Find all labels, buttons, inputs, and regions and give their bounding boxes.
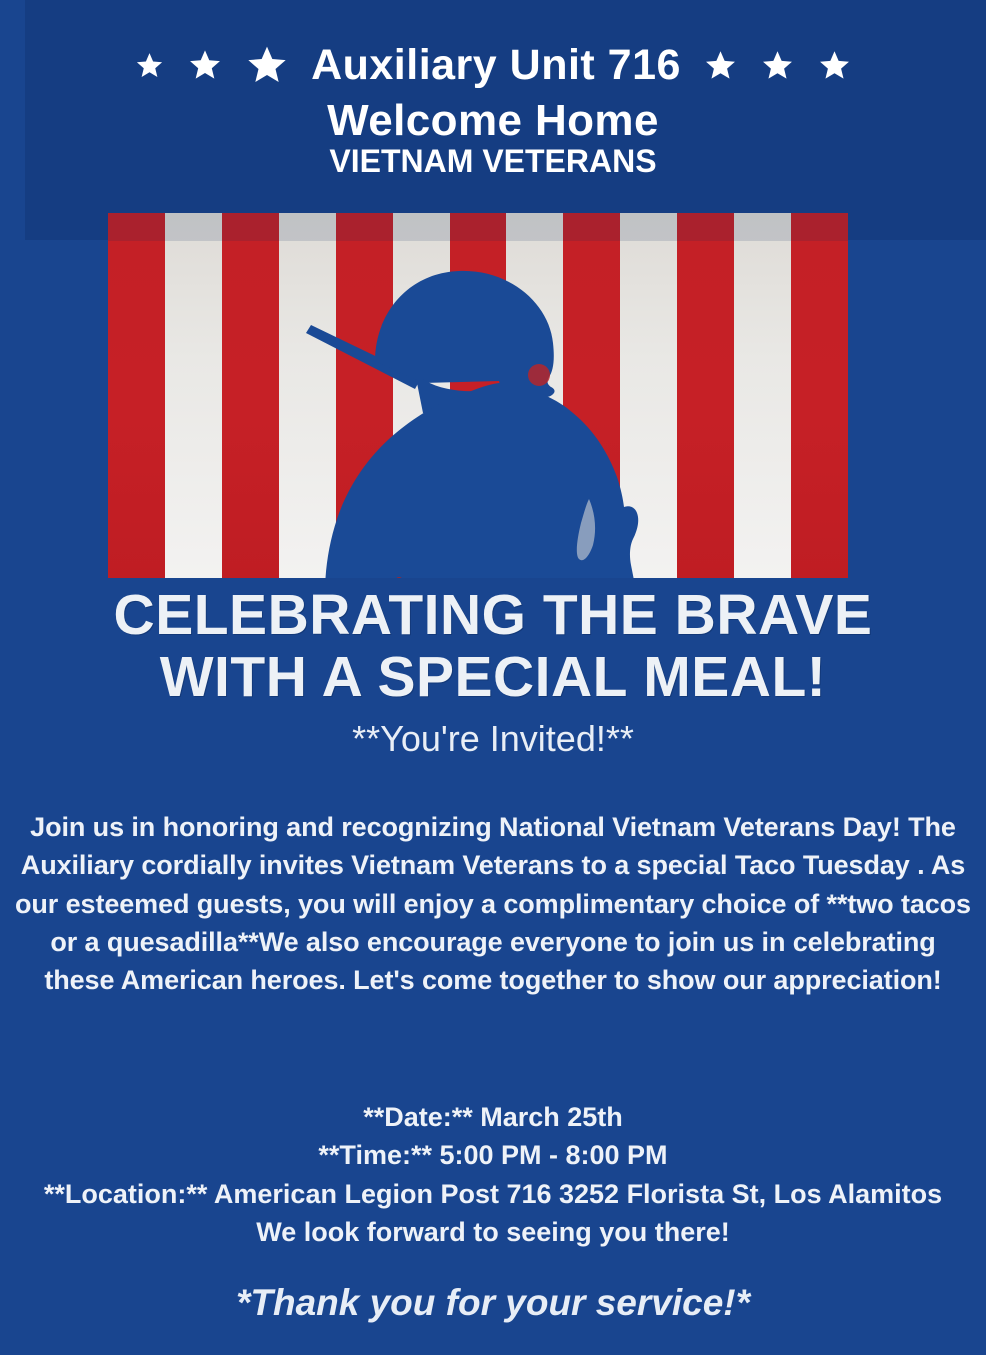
flag-image [108,213,848,578]
star-icon [705,50,736,81]
detail-time: **Time:** 5:00 PM - 8:00 PM [8,1136,978,1174]
star-icon [819,50,850,81]
detail-location: **Location:** American Legion Post 716 3… [8,1175,978,1213]
welcome-home-heading: Welcome Home [0,98,986,144]
star-icon [136,52,163,79]
flag-stripe-red [791,213,848,578]
poster-header: Auxiliary Unit 716 Welcome Home VIETNAM … [0,0,986,200]
star-icon [247,45,287,85]
right-star-group [705,50,850,81]
headline: CELEBRATING THE BRAVE WITH A SPECIAL MEA… [0,585,986,708]
star-icon [189,49,221,81]
invited-subheading: **You're Invited!** [0,718,986,760]
vietnam-veterans-subheading: VIETNAM VETERANS [0,145,986,179]
headline-line-1: CELEBRATING THE BRAVE [0,585,986,647]
detail-closing-note: We look forward to seeing you there! [8,1213,978,1251]
header-star-title-row: Auxiliary Unit 716 [0,36,986,94]
page-title: Auxiliary Unit 716 [287,44,705,87]
thank-you-message: *Thank you for your service!* [0,1282,986,1324]
flag-stripe-white [734,213,791,578]
event-details: **Date:** March 25th **Time:** 5:00 PM -… [8,1098,978,1251]
left-star-group [136,45,287,85]
flag-stripe-red [222,213,279,578]
flag-top-shadow [108,213,848,241]
detail-date: **Date:** March 25th [8,1098,978,1136]
flag-stripe-red [108,213,165,578]
headline-line-2: WITH A SPECIAL MEAL! [0,647,986,709]
flag-stripe-white [165,213,222,578]
star-icon [762,50,793,81]
soldier-silhouette-icon [303,263,703,578]
body-paragraph: Join us in honoring and recognizing Nati… [14,808,972,1000]
poster-canvas: Auxiliary Unit 716 Welcome Home VIETNAM … [0,0,986,1355]
